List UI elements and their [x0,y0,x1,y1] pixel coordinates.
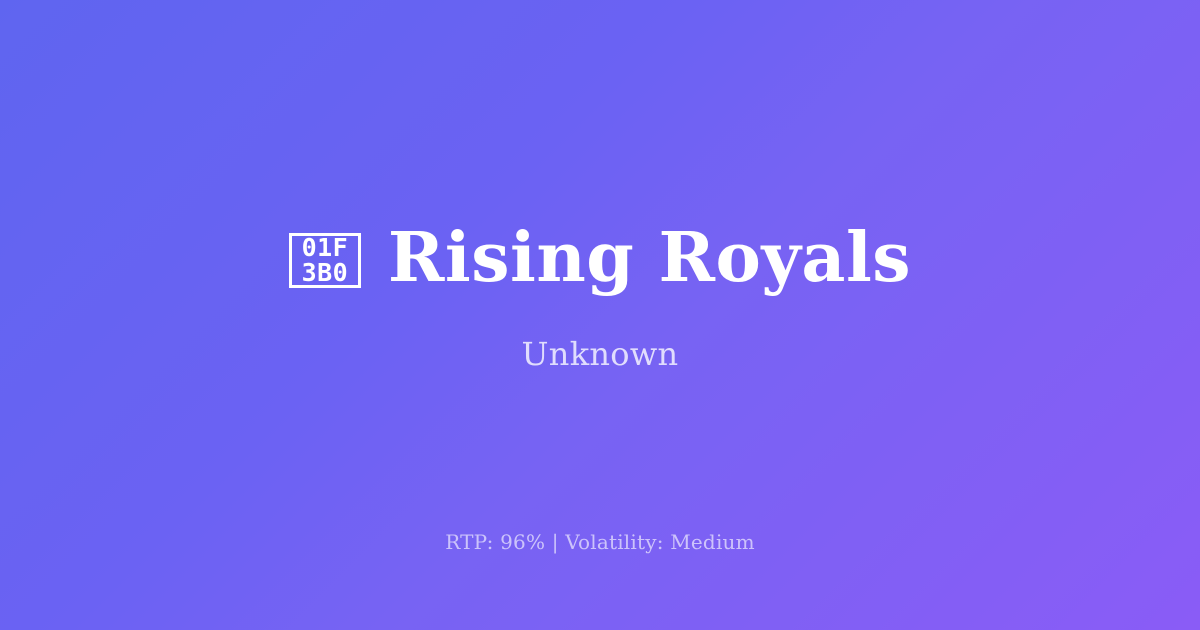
tofu-codepoint-line-2: 3B0 [302,260,349,285]
tofu-codepoint-line-1: 01F [302,235,349,260]
share-card: 01F 3B0 Rising Royals Unknown RTP: 96% |… [0,0,1200,630]
game-meta-line: RTP: 96% | Volatility: Medium [0,529,1200,555]
title-row: 01F 3B0 Rising Royals [289,224,911,293]
slot-machine-icon: 01F 3B0 [289,233,361,288]
page-title: Rising Royals [388,224,911,293]
page-subtitle: Unknown [522,337,679,372]
